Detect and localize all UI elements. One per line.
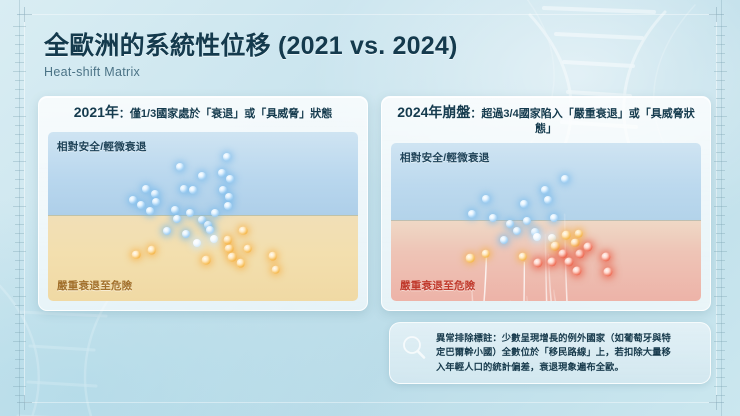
- zone-safe-label-2021: 相對安全/輕微衰退: [57, 139, 147, 154]
- ruler-tick: [15, 233, 24, 234]
- ruler-tick: [15, 197, 24, 198]
- data-point: [163, 227, 171, 235]
- ruler-tick: [716, 359, 725, 360]
- panel-2024[interactable]: 2024年崩盤：超過3/4國家陷入「嚴重衰退」或「具威脅狀態」 相對安全/輕微衰…: [381, 96, 711, 311]
- header: 全歐洲的系統性位移 (2021 vs. 2024) Heat-shift Mat…: [44, 26, 457, 79]
- guide-line-top: [24, 14, 716, 15]
- ruler-tick: [716, 332, 725, 333]
- data-point: [481, 249, 490, 258]
- ruler-tick: [13, 26, 26, 27]
- ruler-tick: [15, 278, 24, 279]
- data-point: [533, 233, 541, 241]
- data-point: [466, 254, 475, 263]
- scatter-plot-2021[interactable]: 相對安全/輕微衰退 嚴重衰退至危險: [48, 132, 358, 301]
- data-point: [225, 244, 234, 253]
- ruler-tick: [714, 26, 727, 27]
- ruler-tick: [15, 287, 24, 288]
- ruler-tick: [13, 71, 26, 72]
- data-point: [559, 249, 568, 258]
- ruler-tick: [716, 98, 725, 99]
- ruler-tick: [13, 251, 26, 252]
- panel-2024-heading: 2024年崩盤：超過3/4國家陷入「嚴重衰退」或「具威脅狀態」: [382, 97, 710, 141]
- data-point: [239, 227, 248, 236]
- panel-2024-year: 2024年崩盤: [397, 104, 470, 120]
- ruler-tick: [716, 134, 725, 135]
- ruler-tick: [716, 197, 725, 198]
- footnote-line-1: 異常排除標註：少數呈現增長的例外國家（如葡萄牙與特: [436, 331, 671, 345]
- ruler-tick: [15, 170, 24, 171]
- ruler-tick: [15, 323, 24, 324]
- data-point: [173, 215, 181, 223]
- data-point: [602, 252, 611, 261]
- ruler-tick: [15, 215, 24, 216]
- data-point: [519, 253, 528, 262]
- data-point: [468, 210, 476, 218]
- guide-line-left: [24, 14, 25, 402]
- ruler-tick: [15, 80, 24, 81]
- ruler-tick: [716, 314, 725, 315]
- panel-2021-year: 2021年: [74, 104, 119, 120]
- ruler-tick: [716, 89, 725, 90]
- data-point: [148, 246, 157, 255]
- data-point: [520, 200, 528, 208]
- ruler-tick: [13, 296, 26, 297]
- ruler-tick: [15, 188, 24, 189]
- ruler-tick: [716, 233, 725, 234]
- footnote-line-3: 入年輕人口的統計偏差，衰退現象遍布全歐。: [436, 360, 671, 374]
- data-point: [482, 195, 490, 203]
- ruler-tick: [716, 323, 725, 324]
- data-point: [550, 214, 558, 222]
- data-point: [272, 265, 281, 274]
- ruler-tick: [13, 206, 26, 207]
- ruler-tick: [716, 269, 725, 270]
- page-title: 全歐洲的系統性位移 (2021 vs. 2024): [44, 26, 457, 62]
- ruler-tick: [15, 89, 24, 90]
- ruler-tick: [15, 152, 24, 153]
- data-point: [132, 250, 141, 259]
- data-point: [573, 266, 582, 275]
- ruler-tick: [716, 143, 725, 144]
- ruler-tick: [15, 305, 24, 306]
- zone-decline-label-2021: 嚴重衰退至危險: [57, 278, 133, 293]
- ruler-tick: [716, 35, 725, 36]
- ruler-tick: [716, 170, 725, 171]
- ruler-tick: [714, 296, 727, 297]
- data-point: [129, 196, 137, 204]
- data-point: [541, 186, 549, 194]
- ruler-tick: [15, 98, 24, 99]
- ruler-tick: [716, 377, 725, 378]
- data-point: [142, 185, 150, 193]
- data-point: [182, 230, 190, 238]
- footnote-callout[interactable]: 異常排除標註：少數呈現增長的例外國家（如葡萄牙與特 定巴爾幹小國）全數位於「移民…: [389, 322, 711, 384]
- ruler-tick: [716, 215, 725, 216]
- ruler-tick: [15, 143, 24, 144]
- ruler-tick: [15, 395, 24, 396]
- ruler-tick: [15, 242, 24, 243]
- data-point: [210, 235, 218, 243]
- data-point: [269, 252, 278, 261]
- data-point: [211, 209, 219, 217]
- ruler-tick: [15, 107, 24, 108]
- data-point: [206, 226, 214, 234]
- data-point: [171, 206, 179, 214]
- data-point: [562, 231, 571, 240]
- ruler-tick: [716, 224, 725, 225]
- zone-decline-label-2024: 嚴重衰退至危險: [400, 278, 476, 293]
- ruler-tick: [716, 152, 725, 153]
- ruler-tick: [714, 251, 727, 252]
- ruler-tick: [716, 179, 725, 180]
- ruler-tick: [15, 134, 24, 135]
- ruler-tick: [716, 287, 725, 288]
- ruler-tick: [15, 224, 24, 225]
- data-point: [225, 193, 233, 201]
- ruler-tick: [714, 206, 727, 207]
- ruler-tick: [716, 125, 725, 126]
- ruler-tick: [714, 116, 727, 117]
- panel-2021-caption: ：僅1/3國家處於「衰退」或「具威脅」狀態: [119, 108, 332, 120]
- footnote-line-2: 定巴爾幹小國）全數位於「移民路線」上，若扣除大量移: [436, 345, 671, 359]
- data-point: [228, 253, 237, 262]
- data-point: [548, 234, 556, 242]
- data-point: [604, 267, 613, 276]
- data-point: [152, 198, 160, 206]
- ruler-tick: [13, 161, 26, 162]
- data-point: [186, 209, 194, 217]
- guide-line-bottom: [24, 402, 716, 403]
- data-point: [506, 220, 514, 228]
- scatter-plot-2024[interactable]: 相對安全/輕微衰退 嚴重衰退至危險: [391, 143, 701, 301]
- panel-2021[interactable]: 2021年：僅1/3國家處於「衰退」或「具威脅」狀態 相對安全/輕微衰退 嚴重衰…: [38, 96, 368, 311]
- ruler-tick: [15, 350, 24, 351]
- data-point: [244, 244, 253, 253]
- data-point: [500, 236, 508, 244]
- ruler-tick: [15, 368, 24, 369]
- data-point: [513, 227, 521, 235]
- data-point: [583, 243, 592, 252]
- ruler-tick: [15, 35, 24, 36]
- data-point: [548, 258, 557, 267]
- magnifier-icon: [399, 333, 429, 363]
- ruler-tick: [15, 332, 24, 333]
- ruler-tick: [15, 314, 24, 315]
- ruler-tick: [716, 278, 725, 279]
- ruler-tick: [714, 71, 727, 72]
- ruler-tick: [716, 80, 725, 81]
- data-point: [176, 163, 184, 171]
- ruler-tick: [716, 188, 725, 189]
- ruler-tick: [15, 62, 24, 63]
- zone-safe-label-2024: 相對安全/輕微衰退: [400, 150, 490, 165]
- data-point: [223, 153, 231, 161]
- ruler-tick: [716, 53, 725, 54]
- ruler-tick: [13, 116, 26, 117]
- data-point: [202, 256, 211, 265]
- data-point: [571, 238, 580, 247]
- ruler-tick: [716, 242, 725, 243]
- footnote-text: 異常排除標註：少數呈現增長的例外國家（如葡萄牙與特 定巴爾幹小國）全數位於「移民…: [436, 331, 671, 374]
- panel-2021-heading: 2021年：僅1/3國家處於「衰退」或「具威脅」狀態: [39, 97, 367, 126]
- data-point: [180, 185, 188, 193]
- data-point: [523, 217, 531, 225]
- ruler-tick: [716, 368, 725, 369]
- ruler-tick: [714, 341, 727, 342]
- data-point: [489, 214, 497, 222]
- data-point: [565, 258, 574, 267]
- ruler-tick: [15, 359, 24, 360]
- data-point: [551, 242, 560, 251]
- guide-line-right: [716, 14, 717, 402]
- ruler-tick: [716, 305, 725, 306]
- ruler-tick: [15, 260, 24, 261]
- data-points-2021: [48, 132, 358, 301]
- ruler-tick: [716, 350, 725, 351]
- slide-canvas: 全歐洲的系統性位移 (2021 vs. 2024) Heat-shift Mat…: [0, 0, 740, 416]
- data-point: [224, 202, 232, 210]
- ruler-tick: [716, 44, 725, 45]
- ruler-tick: [15, 125, 24, 126]
- page-subtitle: Heat-shift Matrix: [44, 65, 457, 79]
- data-point: [226, 175, 234, 183]
- data-point: [146, 207, 154, 215]
- ruler-tick: [13, 341, 26, 342]
- data-point: [574, 230, 583, 239]
- data-point: [237, 259, 246, 268]
- ruler-tick: [716, 260, 725, 261]
- ruler-tick: [716, 395, 725, 396]
- ruler-tick: [716, 62, 725, 63]
- data-point: [218, 169, 226, 177]
- ruler-tick: [13, 386, 26, 387]
- ruler-tick: [15, 53, 24, 54]
- data-point: [193, 239, 201, 247]
- data-point: [561, 175, 569, 183]
- ruler-tick: [15, 179, 24, 180]
- ruler-tick: [714, 161, 727, 162]
- ruler-tick: [714, 386, 727, 387]
- ruler-tick: [716, 107, 725, 108]
- panel-2024-caption: ：超過3/4國家陷入「嚴重衰退」或「具威脅狀態」: [470, 108, 694, 135]
- data-point: [534, 259, 543, 268]
- data-point: [189, 186, 197, 194]
- data-point: [576, 250, 585, 259]
- data-point: [198, 172, 206, 180]
- ruler-tick: [15, 44, 24, 45]
- data-point: [137, 201, 145, 209]
- data-point: [544, 196, 552, 204]
- ruler-tick: [15, 377, 24, 378]
- ruler-tick: [15, 269, 24, 270]
